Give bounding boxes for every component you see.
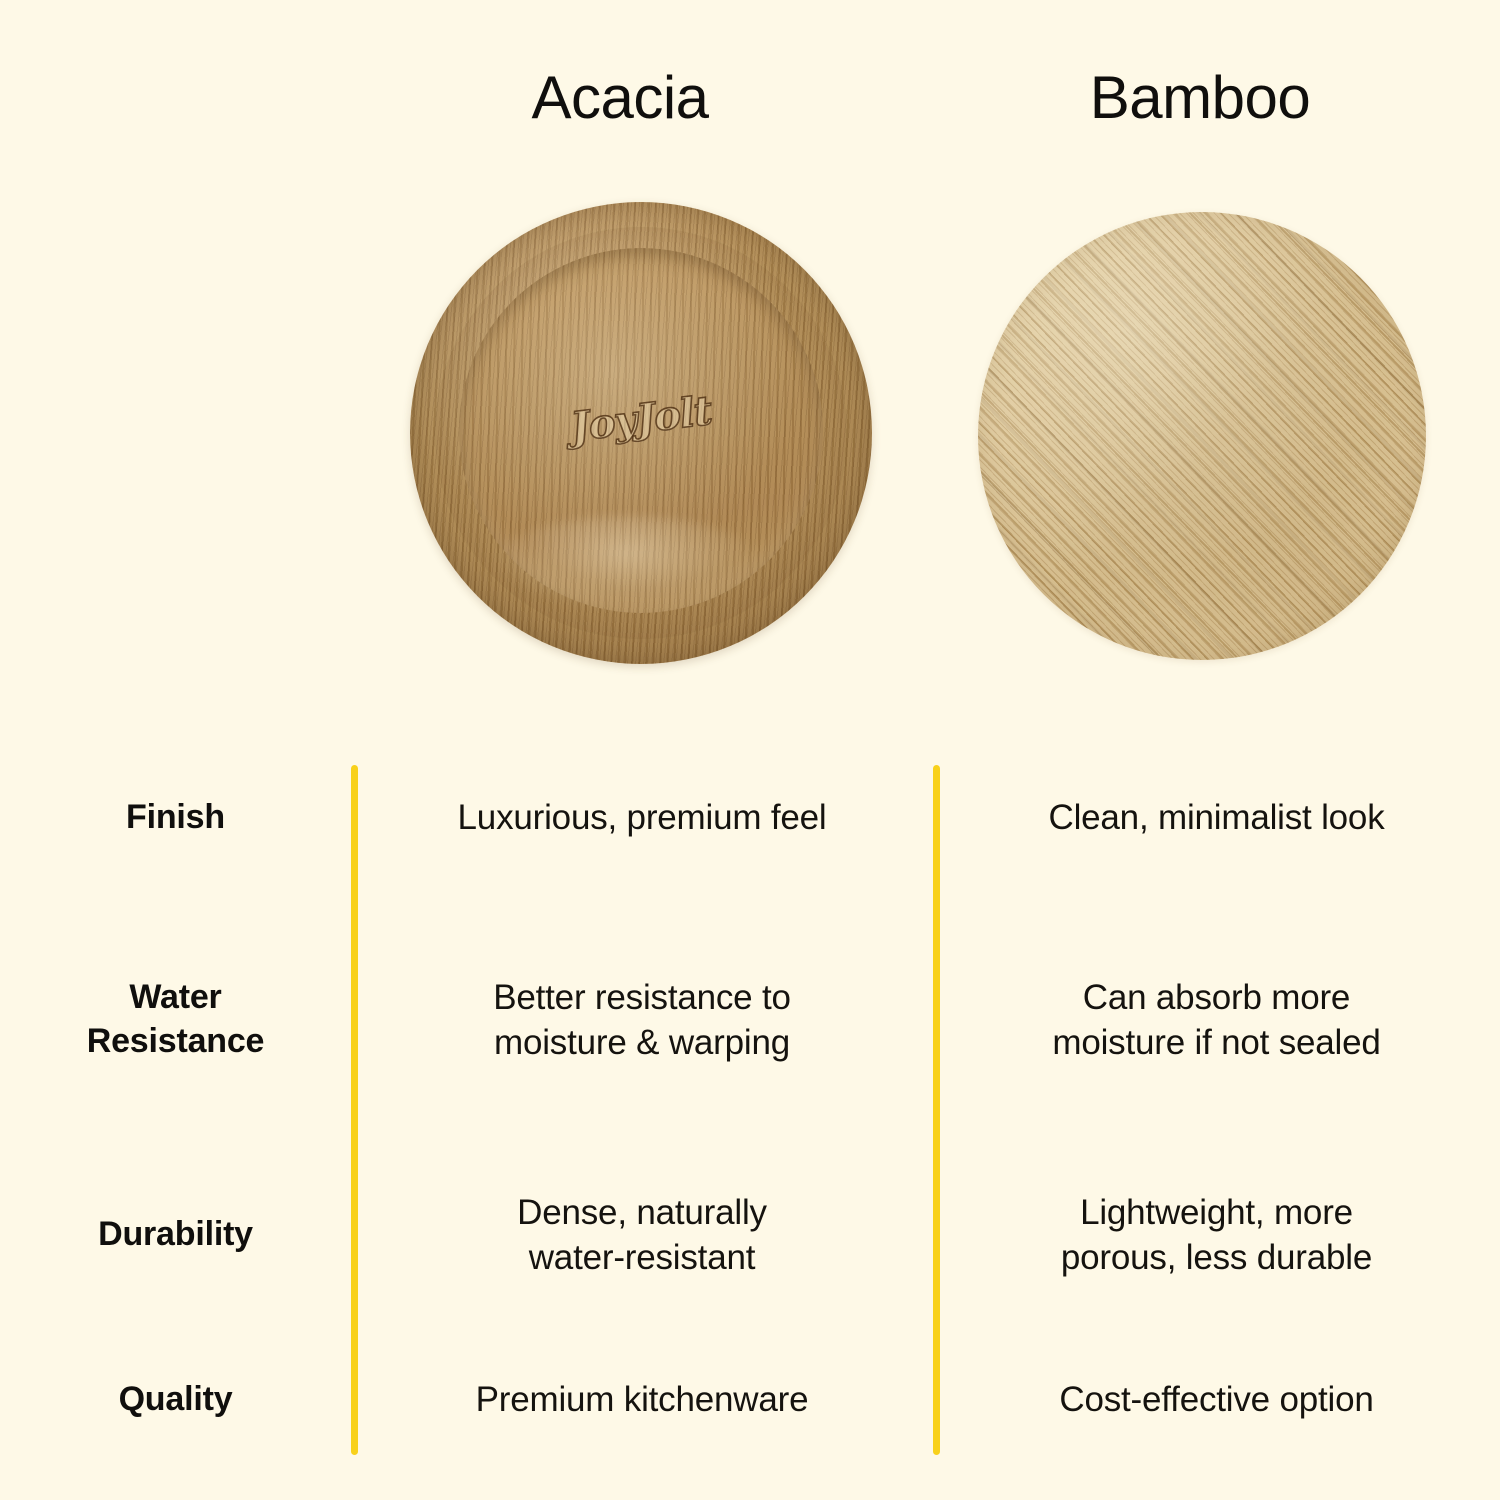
- cell-line: water-resistant: [377, 1235, 907, 1281]
- cell-line: Better resistance to: [377, 975, 907, 1021]
- row-label-line: Water: [16, 976, 335, 1020]
- cell-line: Premium kitchenware: [377, 1377, 907, 1423]
- cell-line: Luxurious, premium feel: [377, 795, 907, 841]
- cell-line: Cost-effective option: [959, 1377, 1474, 1423]
- table-row: Quality Premium kitchenware Cost-effecti…: [0, 1345, 1500, 1455]
- cell-bamboo-quality: Cost-effective option: [933, 1377, 1500, 1423]
- row-label-line: Resistance: [16, 1020, 335, 1064]
- cell-acacia-durability: Dense, naturally water-resistant: [351, 1190, 933, 1281]
- bamboo-sheen: [978, 212, 1426, 660]
- row-label-line: Durability: [16, 1213, 335, 1257]
- plate-highlight: [493, 516, 761, 608]
- row-label-line: Quality: [16, 1378, 335, 1422]
- bamboo-plate-image: [978, 212, 1426, 660]
- cell-acacia-finish: Luxurious, premium feel: [351, 795, 933, 841]
- comparison-infographic: Acacia Bamboo JoyJolt Finish Luxurious, …: [0, 0, 1500, 1500]
- cell-acacia-quality: Premium kitchenware: [351, 1377, 933, 1423]
- row-label-line: Finish: [16, 796, 335, 840]
- cell-line: Can absorb more: [959, 975, 1474, 1021]
- cell-line: Clean, minimalist look: [959, 795, 1474, 841]
- cell-line: moisture if not sealed: [959, 1020, 1474, 1066]
- row-label-water-resistance: Water Resistance: [0, 976, 351, 1063]
- column-header-acacia: Acacia: [350, 58, 890, 138]
- cell-line: Dense, naturally: [377, 1190, 907, 1236]
- column-header-bamboo: Bamboo: [930, 58, 1470, 138]
- cell-bamboo-water-resistance: Can absorb more moisture if not sealed: [933, 975, 1500, 1066]
- cell-line: moisture & warping: [377, 1020, 907, 1066]
- row-label-durability: Durability: [0, 1213, 351, 1257]
- cell-bamboo-finish: Clean, minimalist look: [933, 795, 1500, 841]
- table-row: Water Resistance Better resistance to mo…: [0, 940, 1500, 1100]
- comparison-table: Finish Luxurious, premium feel Clean, mi…: [0, 745, 1500, 1485]
- table-row: Finish Luxurious, premium feel Clean, mi…: [0, 755, 1500, 881]
- cell-line: Lightweight, more: [959, 1190, 1474, 1236]
- acacia-plate-image: JoyJolt: [410, 202, 872, 664]
- row-label-quality: Quality: [0, 1378, 351, 1422]
- row-label-finish: Finish: [0, 796, 351, 840]
- table-row: Durability Dense, naturally water-resist…: [0, 1160, 1500, 1310]
- cell-bamboo-durability: Lightweight, more porous, less durable: [933, 1190, 1500, 1281]
- cell-acacia-water-resistance: Better resistance to moisture & warping: [351, 975, 933, 1066]
- cell-line: porous, less durable: [959, 1235, 1474, 1281]
